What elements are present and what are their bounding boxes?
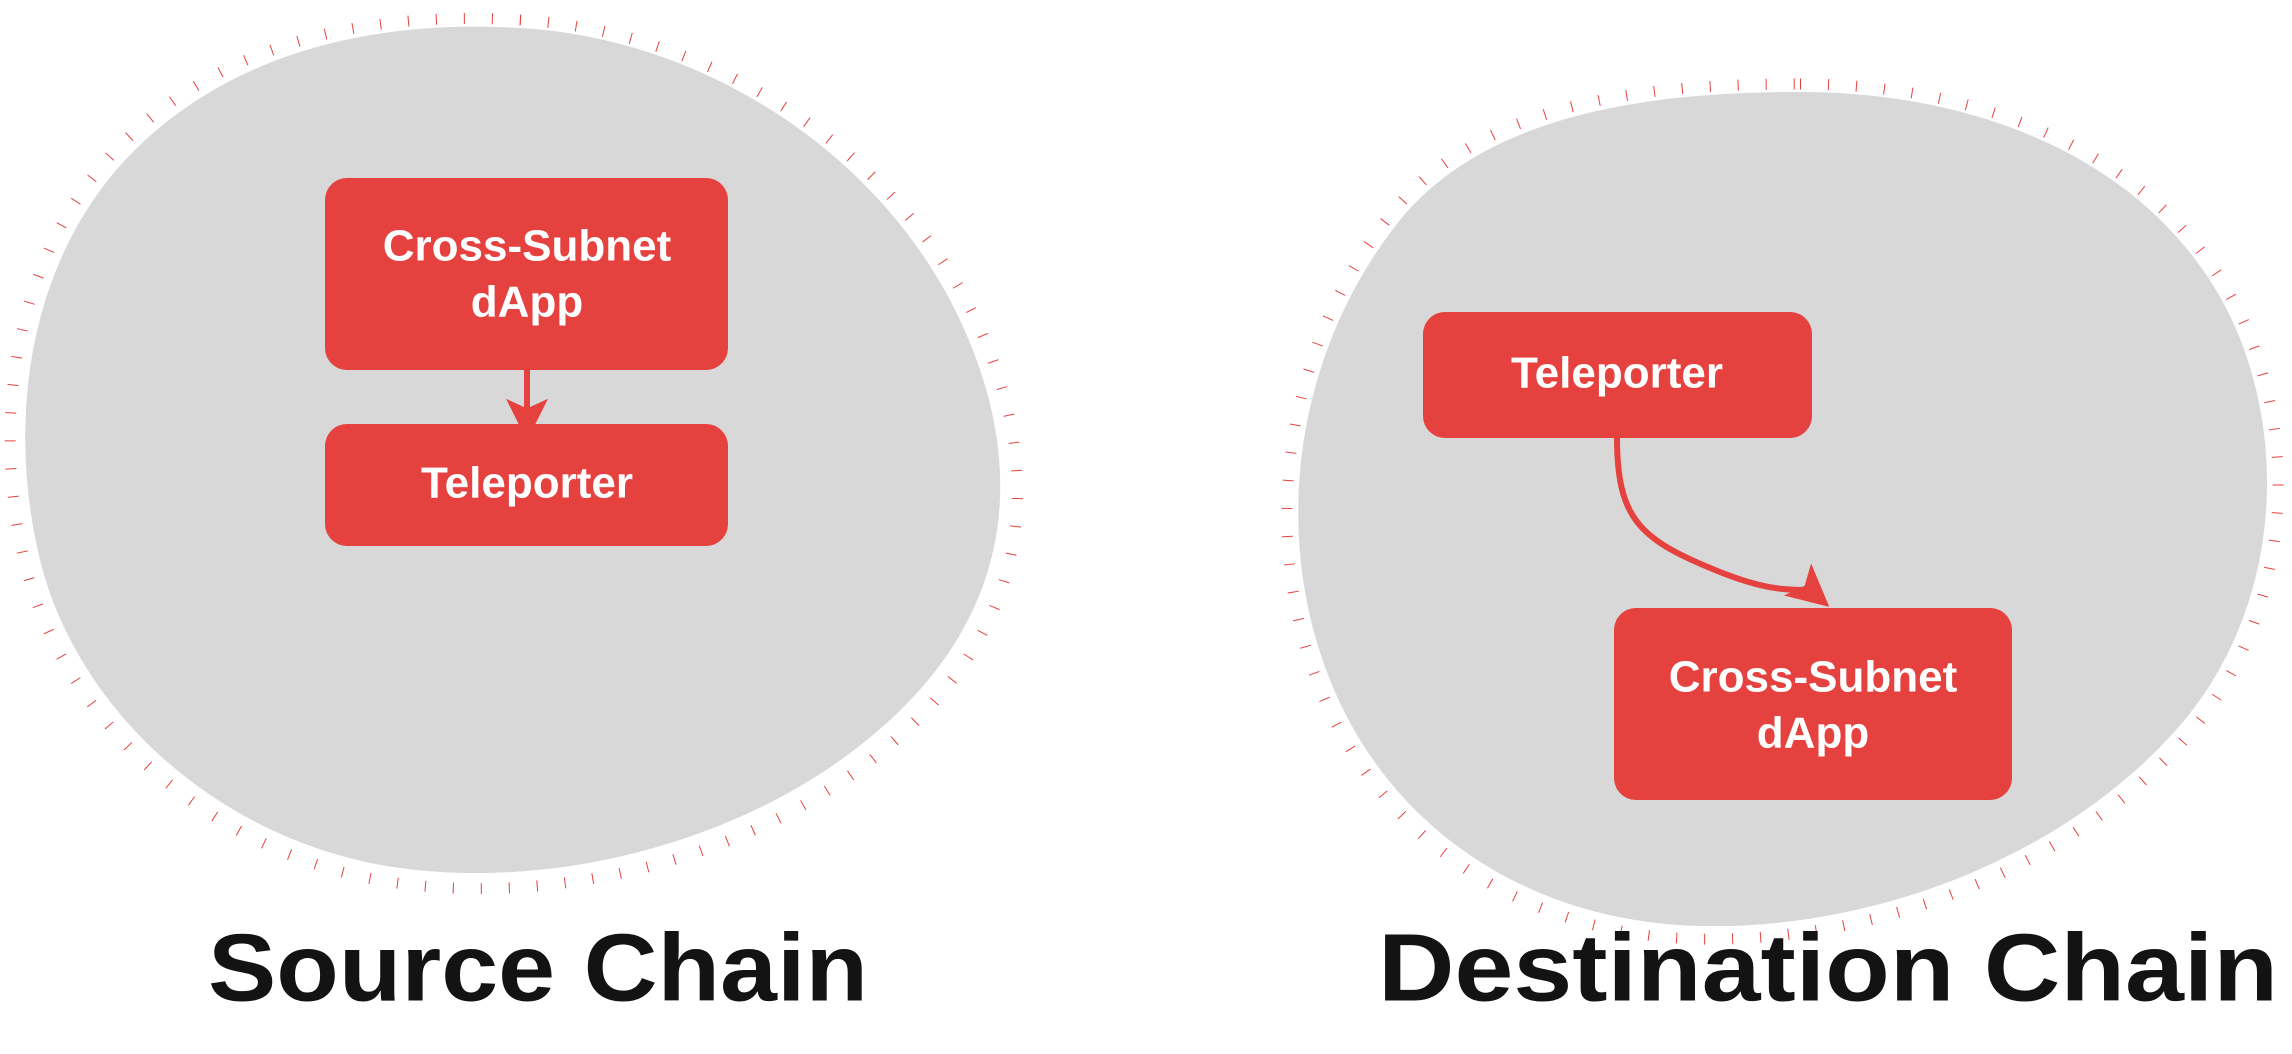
destination-chain-group: Teleporter Cross-Subnet dApp Destination… <box>1287 84 2278 1021</box>
node-source-cross-subnet-dapp[interactable]: Cross-Subnet dApp <box>325 178 728 370</box>
node-source-dapp-box[interactable] <box>325 178 728 370</box>
node-source-teleporter[interactable]: Teleporter <box>325 424 728 546</box>
diagram-canvas: Cross-Subnet dApp Teleporter Source Chai… <box>0 0 2292 1054</box>
diagram-svg: Cross-Subnet dApp Teleporter Source Chai… <box>0 0 2292 1054</box>
destination-chain-blob <box>1298 92 2267 926</box>
node-source-dapp-label-line1: Cross-Subnet <box>383 222 672 271</box>
node-destination-teleporter-label: Teleporter <box>1511 349 1723 398</box>
node-destination-dapp-label-line2: dApp <box>1757 709 1869 758</box>
node-destination-cross-subnet-dapp[interactable]: Cross-Subnet dApp <box>1614 608 2012 800</box>
node-destination-dapp-box[interactable] <box>1614 608 2012 800</box>
destination-chain-caption: Destination Chain <box>1378 914 2278 1021</box>
source-chain-group: Cross-Subnet dApp Teleporter Source Chai… <box>10 18 1017 1021</box>
node-source-teleporter-label: Teleporter <box>421 459 633 508</box>
node-source-dapp-label-line2: dApp <box>471 278 583 327</box>
node-destination-dapp-label-line1: Cross-Subnet <box>1669 653 1958 702</box>
source-chain-caption: Source Chain <box>208 914 868 1021</box>
node-destination-teleporter[interactable]: Teleporter <box>1423 312 1812 438</box>
